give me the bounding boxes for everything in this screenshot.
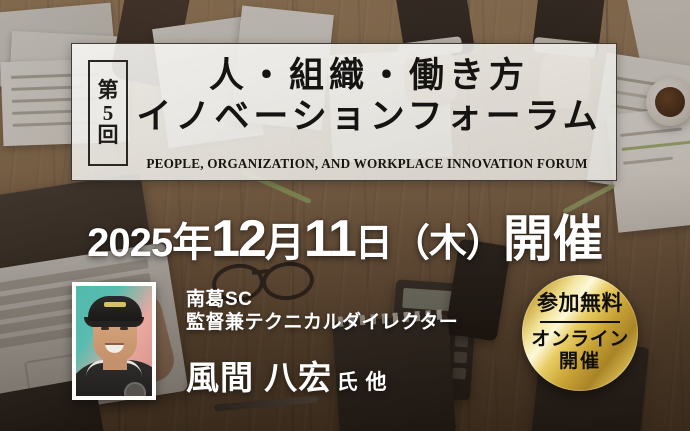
date-month-number: 12 [211,210,265,268]
event-date: 2025年12月11日（木）開催 [0,199,690,271]
speaker-organization: 南葛SC [186,288,458,311]
edition-char-kai: 回 [98,124,119,147]
date-weekday: （木） [392,223,503,265]
speaker-name: 風間 八宏 [186,359,332,396]
title-panel: 第 5 回 人・組織・働き方 イノベーションフォーラム PEOPLE, ORGA… [71,43,617,181]
date-day-number: 11 [304,210,355,268]
edition-char-dai: 第 [98,79,119,102]
date-held-label: 開催 [503,211,603,267]
date-day-unit: 日 [355,223,392,265]
edition-number: 5 [103,102,114,125]
badge-free-label: 参加無料 [537,293,623,314]
speaker-name-row: 風間 八宏 氏 他 [186,351,387,399]
status-badge: 参加無料 オンライン 開催 [522,275,638,391]
title-line-1: 人・組織・働き方 [134,56,604,97]
badge-held-label: 開催 [559,351,601,373]
speaker-honorific: 氏 他 [337,371,388,394]
speaker-affiliation: 南葛SC 監督兼テクニカルダイレクター [186,288,458,334]
date-year: 2025年 [87,221,211,265]
speaker-role: 監督兼テクニカルダイレクター [186,311,458,334]
badge-divider [540,321,620,323]
page-title: 人・組織・働き方 イノベーションフォーラム [134,56,604,137]
date-month-unit: 月 [265,221,304,265]
badge-online-label: オンライン [531,329,629,351]
event-banner: 第 5 回 人・組織・働き方 イノベーションフォーラム PEOPLE, ORGA… [0,0,690,431]
title-line-2: イノベーションフォーラム [134,96,604,137]
english-subtitle: PEOPLE, ORGANIZATION, AND WORKPLACE INNO… [126,156,608,172]
speaker-photo [72,282,156,400]
edition-badge: 第 5 回 [88,60,128,166]
